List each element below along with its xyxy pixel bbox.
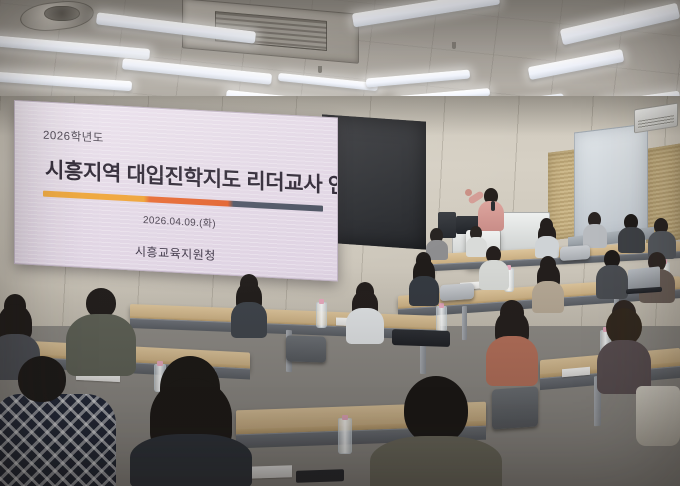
chair[interactable] (286, 335, 326, 362)
attendee-torso (346, 308, 384, 344)
lecture-hall-photo: 2026학년도 시흥지역 대입진학지도 리더교사 연수 2026.04.09.(… (0, 0, 680, 486)
water-bottle (436, 306, 447, 332)
bottle-cap (342, 415, 349, 420)
slide-content: 2026학년도 시흥지역 대입진학지도 리더교사 연수 2026.04.09.(… (15, 101, 337, 280)
attendee-torso (409, 276, 439, 306)
microphone-icon (491, 201, 495, 211)
attendee-torso (486, 336, 538, 386)
slide-title: 시흥지역 대입진학지도 리더교사 연수 (45, 154, 321, 199)
bottle-cap (439, 303, 444, 308)
attendee-torso (532, 281, 564, 313)
handout-paper (246, 465, 292, 479)
bottle-cap (157, 361, 163, 366)
slide-organization: 시흥교육지원청 (135, 243, 321, 270)
sprinkler-icon (452, 42, 456, 49)
ceiling-speaker-icon (44, 6, 80, 21)
attendee-torso (66, 314, 136, 376)
slide-date: 2026.04.09.(화) (143, 211, 321, 236)
attendee-torso (479, 260, 509, 290)
projection-screen: 2026학년도 시흥지역 대입진학지도 리더교사 연수 2026.04.09.(… (14, 100, 338, 282)
attendee-head (18, 356, 66, 402)
attendee-torso (618, 227, 645, 253)
attendee-head (404, 376, 468, 444)
slide-year-line: 2026학년도 (43, 127, 321, 158)
shoulder-bag (636, 386, 680, 446)
attendee-torso (130, 434, 252, 486)
attendee-torso (596, 265, 628, 299)
attendee-torso (370, 436, 502, 486)
attendee-patterned-jacket (0, 394, 116, 486)
attendee-torso (466, 237, 487, 257)
attendee-torso (231, 302, 267, 338)
attendee-torso (535, 236, 559, 258)
sprinkler-icon (318, 66, 322, 73)
desk-leg (462, 306, 467, 340)
water-bottle (316, 302, 327, 328)
bottle-cap (319, 299, 324, 304)
water-bottle (338, 418, 352, 454)
presenter-hand (465, 189, 472, 196)
laptop-closed[interactable] (392, 329, 450, 347)
chair[interactable] (492, 386, 538, 429)
chair[interactable] (440, 283, 474, 301)
chair[interactable] (560, 245, 590, 261)
smartphone[interactable] (296, 469, 344, 483)
